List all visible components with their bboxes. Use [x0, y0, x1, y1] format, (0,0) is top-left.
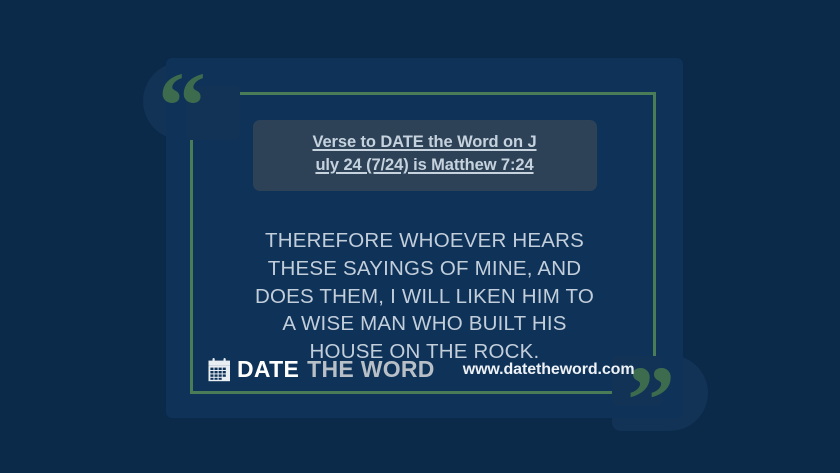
verse-line: THESE SAYINGS OF MINE, AND: [166, 255, 683, 283]
website-url: www.datetheword.com: [463, 361, 635, 379]
wordmark-date: DATE: [237, 356, 299, 383]
verse-line: A WISE MAN WHO BUILT HIS: [166, 310, 683, 338]
brand-footer: DATE THE WORD www.datetheword.com: [208, 356, 634, 383]
verse-line: THEREFORE WHOEVER HEARS: [166, 227, 683, 255]
calendar-icon: [208, 358, 231, 382]
verse-title-line-1: Verse to DATE the Word on J: [263, 131, 587, 154]
verse-title-banner: Verse to DATE the Word on J uly 24 (7/24…: [253, 120, 597, 191]
verse-graphic-canvas: “ ” Verse to DATE the Word on J uly 24 (…: [0, 0, 840, 473]
card-content: Verse to DATE the Word on J uly 24 (7/24…: [166, 58, 683, 418]
verse-body: THEREFORE WHOEVER HEARS THESE SAYINGS OF…: [166, 227, 683, 366]
brand-wordmark: DATE THE WORD: [237, 356, 435, 383]
wordmark-the-word: THE WORD: [307, 356, 435, 383]
verse-line: DOES THEM, I WILL LIKEN HIM TO: [166, 283, 683, 311]
verse-title-line-2: uly 24 (7/24) is Matthew 7:24: [263, 154, 587, 177]
